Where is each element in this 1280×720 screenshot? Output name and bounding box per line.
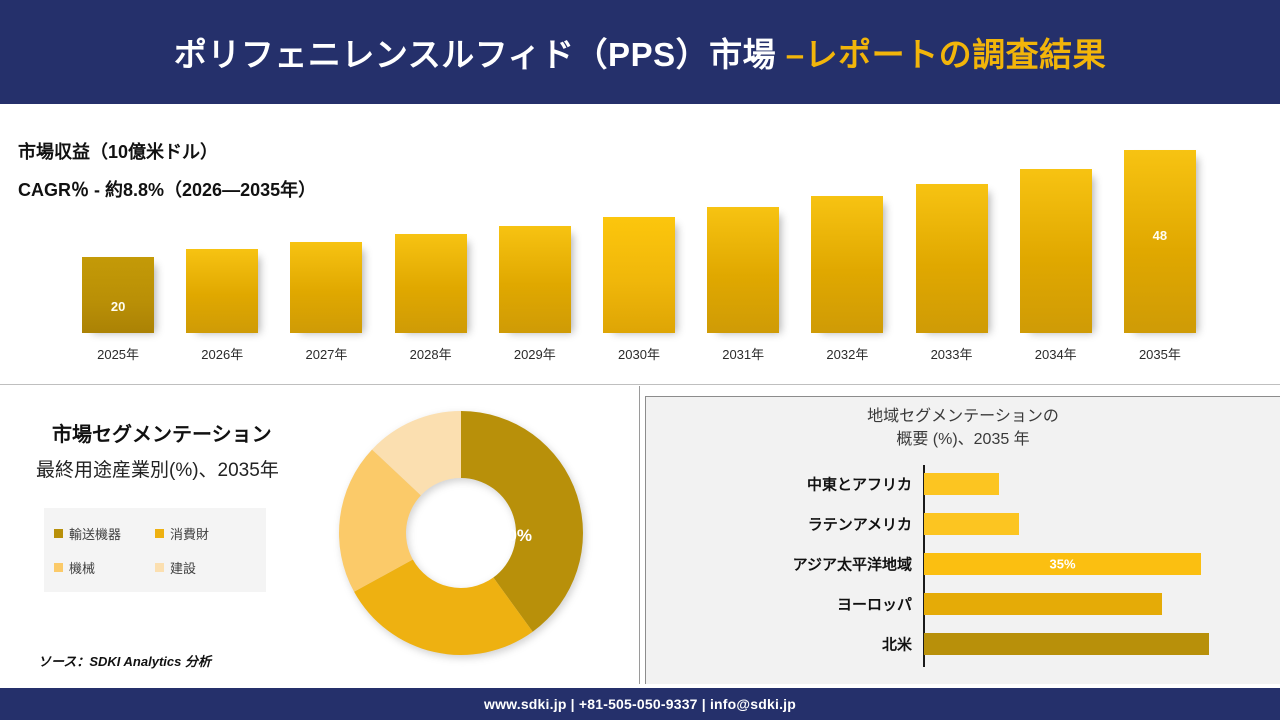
region-bar: [924, 633, 1209, 655]
revenue-bar: 2033年: [916, 184, 988, 333]
revenue-bar-column: 2032年: [811, 196, 883, 333]
slide-canvas: ポリフェニレンスルフィド（PPS）市場 –レポートの調査結果 市場収益（10億米…: [0, 0, 1280, 720]
page-title: ポリフェニレンスルフィド（PPS）市場 –レポートの調査結果: [174, 28, 1106, 76]
revenue-bar: 2034年: [1020, 169, 1092, 333]
revenue-chart-section: 市場収益（10億米ドル） CAGR％ - 約8.8%（2026―2035年） 2…: [0, 104, 1280, 385]
revenue-bar-column: 482035年: [1124, 150, 1196, 333]
legend-swatch-icon: [54, 529, 63, 538]
legend-item-label: 輸送機器: [69, 524, 121, 543]
legend-item-label: 機械: [69, 558, 95, 577]
revenue-bar: 2031年: [707, 207, 779, 333]
revenue-bars-area: 202025年2026年2027年2028年2029年2030年2031年203…: [0, 104, 1280, 385]
page-header: ポリフェニレンスルフィド（PPS）市場 –レポートの調査結果: [0, 0, 1280, 104]
region-bar-label: ヨーロッパ: [837, 594, 912, 615]
legend-swatch-icon: [155, 563, 164, 572]
revenue-bar: 2027年: [290, 242, 362, 333]
revenue-bar-column: 2027年: [290, 242, 362, 333]
page-footer: www.sdki.jp | +81-505-050-9337 | info@sd…: [0, 688, 1280, 720]
revenue-bar-xlabel: 2026年: [201, 344, 243, 363]
segmentation-legend: 輸送機器消費財機械建設: [44, 508, 266, 592]
revenue-bar-column: 2034年: [1020, 169, 1092, 333]
revenue-bar-column: 2033年: [916, 184, 988, 333]
region-bar: 35%: [924, 553, 1201, 575]
revenue-bar-column: 202025年: [82, 257, 154, 333]
revenue-bar-column: 2030年: [603, 217, 675, 333]
region-bar: [924, 593, 1162, 615]
revenue-bar-xlabel: 2025年: [97, 344, 139, 363]
donut-value-label: 40%: [498, 526, 532, 546]
revenue-bar-xlabel: 2032年: [826, 344, 868, 363]
revenue-bar-xlabel: 2035年: [1139, 344, 1181, 363]
revenue-bar-column: 2028年: [395, 234, 467, 333]
donut-chart: 40%: [336, 408, 586, 658]
revenue-bar: 482035年: [1124, 150, 1196, 333]
source-note: ソース：SDKI Analytics 分析: [38, 651, 211, 670]
revenue-bar-xlabel: 2028年: [410, 344, 452, 363]
segmentation-title: 市場セグメンテーション: [52, 418, 272, 447]
market-segmentation-panel: 市場セグメンテーション 最終用途産業別(%)、2035年 輸送機器消費財機械建設…: [0, 386, 640, 684]
region-bar-label: アジア太平洋地域: [793, 554, 912, 575]
legend-swatch-icon: [54, 563, 63, 572]
legend-item: 消費財: [155, 524, 256, 543]
revenue-bar: 2026年: [186, 249, 258, 333]
region-bar: [924, 513, 1019, 535]
revenue-bar: 2030年: [603, 217, 675, 333]
regional-title-line1: 地域セグメンテーションの: [867, 408, 1059, 425]
regional-title: 地域セグメンテーションの 概要 (%)、2035 年: [646, 405, 1280, 451]
legend-item-label: 建設: [170, 558, 196, 577]
revenue-bar-xlabel: 2029年: [514, 344, 556, 363]
footer-contact: www.sdki.jp | +81-505-050-9337 | info@sd…: [484, 696, 796, 712]
regional-title-line2: 概要 (%)、2035 年: [896, 431, 1029, 448]
legend-item: 建設: [155, 558, 256, 577]
revenue-bar-xlabel: 2034年: [1035, 344, 1077, 363]
revenue-bar-column: 2031年: [707, 207, 779, 333]
region-bar-label: 中東とアフリカ: [807, 474, 912, 495]
revenue-bar: 2029年: [499, 226, 571, 333]
region-bar-label: 北米: [882, 634, 912, 655]
revenue-bar-xlabel: 2033年: [931, 344, 973, 363]
revenue-bar-xlabel: 2031年: [722, 344, 764, 363]
revenue-bar-xlabel: 2030年: [618, 344, 660, 363]
revenue-bar: 202025年: [82, 257, 154, 333]
legend-item: 輸送機器: [54, 524, 155, 543]
regional-bars-area: 中東とアフリカラテンアメリカアジア太平洋地域35%ヨーロッパ北米: [646, 463, 1280, 669]
revenue-bar-value: 48: [1124, 228, 1196, 243]
revenue-bar: 2032年: [811, 196, 883, 333]
region-bar-row: 中東とアフリカ: [924, 473, 999, 495]
revenue-bar-column: 2026年: [186, 249, 258, 333]
segmentation-subtitle: 最終用途産業別(%)、2035年: [36, 455, 279, 482]
legend-swatch-icon: [155, 529, 164, 538]
legend-item: 機械: [54, 558, 155, 577]
revenue-bar-xlabel: 2027年: [305, 344, 347, 363]
page-title-main: ポリフェニレンスルフィド（PPS）市場: [174, 36, 786, 73]
regional-segmentation-panel: 地域セグメンテーションの 概要 (%)、2035 年 中東とアフリカラテンアメリ…: [645, 396, 1280, 684]
region-bar: [924, 473, 999, 495]
region-bar-row: ヨーロッパ: [924, 593, 1162, 615]
revenue-bar: 2028年: [395, 234, 467, 333]
page-title-accent: –レポートの調査結果: [786, 36, 1106, 73]
revenue-bar-column: 2029年: [499, 226, 571, 333]
revenue-bar-value: 20: [82, 299, 154, 314]
region-bar-row: アジア太平洋地域35%: [924, 553, 1201, 575]
region-bar-row: ラテンアメリカ: [924, 513, 1019, 535]
region-bar-value: 35%: [924, 557, 1201, 572]
legend-item-label: 消費財: [170, 524, 209, 543]
region-bar-label: ラテンアメリカ: [808, 514, 912, 535]
region-bar-row: 北米: [924, 633, 1209, 655]
